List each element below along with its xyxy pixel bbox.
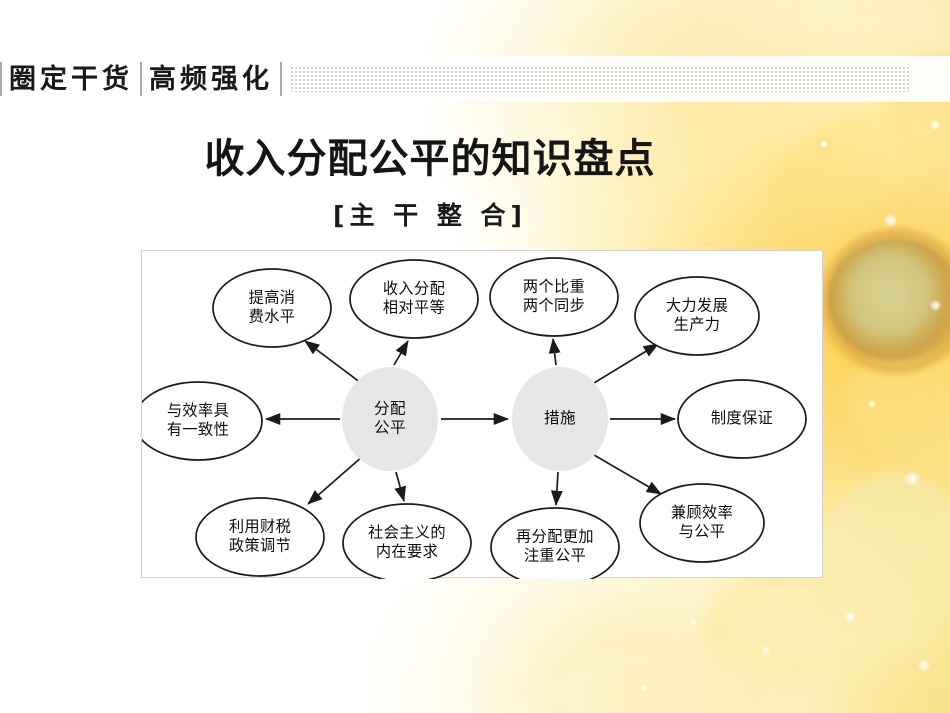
node-taxpolicy[interactable]: 利用财税政策调节 <box>196 498 324 576</box>
header-badge-2: 高频强化 <box>142 66 280 93</box>
node-label-line: 两个比重 <box>523 278 585 296</box>
hub-node-measures[interactable]: 措施 <box>512 367 608 471</box>
node-label-line: 内在要求 <box>376 543 438 561</box>
header-badge-1: 圈定干货 <box>2 66 140 93</box>
node-label-line: 有一致性 <box>167 421 229 439</box>
edge-fairness-to-taxpolicy <box>308 456 363 504</box>
bokeh-sparkle <box>884 214 897 227</box>
edge-fairness-to-socialism <box>396 472 404 501</box>
node-label-line: 分配 <box>374 400 406 418</box>
bokeh-sparkle <box>690 618 697 625</box>
node-productive[interactable]: 大力发展生产力 <box>635 277 759 355</box>
concept-map-svg: 分配公平措施提高消费水平收入分配相对平等两个比重两个同步大力发展生产力与效率具有… <box>142 251 824 579</box>
node-label-line: 与效率具 <box>167 402 229 420</box>
edge-measures-to-twoshares <box>553 339 556 365</box>
node-label-line: 兼顾效率 <box>671 504 733 522</box>
node-institution[interactable]: 制度保证 <box>678 380 806 458</box>
node-label-line: 收入分配 <box>383 280 445 298</box>
node-efficiency[interactable]: 与效率具有一致性 <box>142 382 262 460</box>
node-socialism[interactable]: 社会主义的内在要求 <box>343 504 471 579</box>
bokeh-sparkle <box>868 400 876 408</box>
node-label-line: 两个同步 <box>523 297 585 315</box>
edge-layer <box>266 339 675 505</box>
page-subtitle: [主 干 整 合] <box>0 196 860 232</box>
node-label-line: 生产力 <box>674 316 721 334</box>
node-label-line: 大力发展 <box>666 297 728 315</box>
edge-measures-to-redistrib <box>556 472 558 505</box>
bokeh-sparkle <box>930 120 940 130</box>
node-label-line: 与公平 <box>679 523 726 541</box>
edge-fairness-to-consume <box>305 341 361 383</box>
node-label-line: 费水平 <box>249 308 296 326</box>
node-label-line: 制度保证 <box>711 409 773 427</box>
bokeh-sparkle <box>845 612 855 622</box>
node-equalish[interactable]: 收入分配相对平等 <box>350 260 478 338</box>
node-shape <box>343 504 471 579</box>
edge-measures-to-balance <box>594 455 661 494</box>
header-bar: 圈定干货 高频强化 <box>0 56 950 102</box>
header-dot-pattern <box>290 66 910 92</box>
header-rule-right <box>280 62 282 96</box>
node-label-line: 利用财税 <box>229 518 291 536</box>
background-petal <box>557 631 813 713</box>
node-consume[interactable]: 提高消费水平 <box>213 269 331 347</box>
bokeh-sparkle <box>905 472 919 486</box>
node-label-line: 相对平等 <box>383 299 445 317</box>
node-label-line: 政策调节 <box>229 537 291 555</box>
node-label-line: 提高消 <box>249 289 296 307</box>
background-petal <box>832 336 950 493</box>
node-balance[interactable]: 兼顾效率与公平 <box>640 484 764 562</box>
node-label-line: 社会主义的 <box>368 524 446 542</box>
node-label-line: 公平 <box>374 419 406 437</box>
edge-measures-to-productive <box>594 344 658 383</box>
slide-canvas: 圈定干货 高频强化 收入分配公平的知识盘点 [主 干 整 合] 分配公平措施提高… <box>0 0 950 713</box>
concept-map-panel: 分配公平措施提高消费水平收入分配相对平等两个比重两个同步大力发展生产力与效率具有… <box>141 250 823 578</box>
bokeh-sparkle <box>930 300 941 311</box>
node-twoshares[interactable]: 两个比重两个同步 <box>490 258 618 336</box>
bokeh-sparkle <box>918 660 930 672</box>
page-title: 收入分配公平的知识盘点 <box>0 126 860 184</box>
flower-center-disc <box>828 238 950 362</box>
node-label-line: 再分配更加 <box>516 528 594 546</box>
node-redistrib[interactable]: 再分配更加注重公平 <box>491 508 619 579</box>
node-label-line: 措施 <box>544 409 576 427</box>
node-label-line: 注重公平 <box>524 547 586 565</box>
bokeh-sparkle <box>640 684 647 691</box>
hub-node-fairness[interactable]: 分配公平 <box>342 367 438 471</box>
bokeh-sparkle <box>762 646 770 654</box>
flower-center-ring <box>818 228 950 374</box>
edge-fairness-to-equalish <box>394 341 408 365</box>
